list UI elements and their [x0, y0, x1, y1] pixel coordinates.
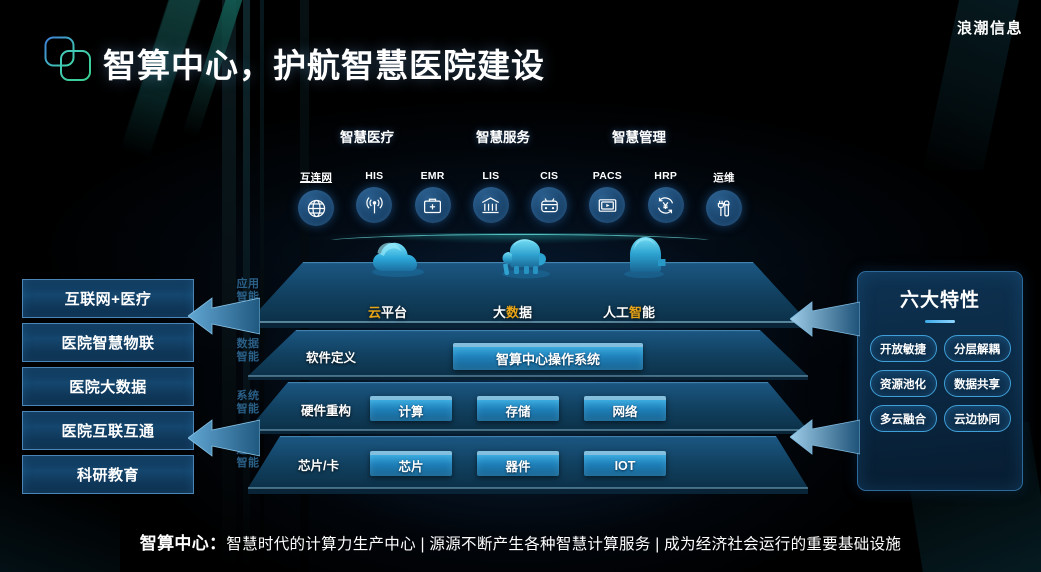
cloud-3d-icon	[370, 236, 426, 278]
slide-canvas: 智算中心，护航智慧医院建设 浪潮信息 智慧医疗 智慧服务 智慧管理 互连网 HI…	[0, 0, 1041, 572]
head-3d-icon	[619, 233, 669, 279]
architecture-pyramid: 云平台 大数据 人工智能 软件定义 智算中心操作系统	[248, 262, 808, 494]
app-label: LIS	[482, 170, 499, 182]
arrow-left-upper	[188, 296, 260, 336]
app-item-lis[interactable]: LIS	[465, 170, 517, 226]
elephant-3d-icon	[498, 235, 554, 279]
list-item[interactable]: 科研教育	[22, 455, 194, 494]
arrow-right-upper	[790, 300, 860, 338]
medkit-icon	[415, 187, 451, 223]
yen-cycle-icon	[648, 187, 684, 223]
app-item-pacs[interactable]: PACS	[581, 170, 633, 226]
application-section: 智慧医疗 智慧服务 智慧管理 互连网 HIS	[290, 126, 750, 246]
app-label: EMR	[421, 170, 445, 182]
feature-pill[interactable]: 开放敏捷	[870, 335, 937, 362]
top-item-label-ai: 人工智能	[603, 302, 655, 321]
list-item[interactable]: 医院互联互通	[22, 411, 194, 450]
bank-icon	[473, 187, 509, 223]
group-title-manage: 智慧管理	[612, 126, 666, 146]
footer-rest: 智慧时代的计算力生产中心 | 源源不断产生各种智慧计算服务 | 成为经济社会运行…	[226, 536, 901, 553]
globe-icon	[298, 190, 334, 226]
tools-icon	[706, 190, 742, 226]
app-label: CIS	[540, 170, 558, 182]
app-label: HRP	[654, 170, 677, 182]
chip-network[interactable]: 网络	[584, 396, 666, 421]
app-item-hrp[interactable]: HRP	[640, 170, 692, 226]
app-item-cis[interactable]: CIS	[523, 170, 575, 226]
layer-row-label-software: 软件定义	[306, 347, 356, 366]
footer: 智算中心：智慧时代的计算力生产中心 | 源源不断产生各种智慧计算服务 | 成为经…	[0, 529, 1041, 554]
feature-pill[interactable]: 资源池化	[870, 370, 937, 397]
app-label: PACS	[593, 170, 622, 182]
chip-compute[interactable]: 计算	[370, 396, 452, 421]
media-play-icon	[589, 187, 625, 223]
monitor-icon	[531, 187, 567, 223]
layer-row-label-hardware: 硬件重构	[301, 400, 351, 419]
group-title-service: 智慧服务	[476, 126, 530, 146]
signal-icon	[356, 187, 392, 223]
list-item[interactable]: 医院智慧物联	[22, 323, 194, 362]
app-item-emr[interactable]: EMR	[407, 170, 459, 226]
divider	[925, 320, 955, 323]
software-layer[interactable]: 软件定义 智算中心操作系统	[248, 330, 808, 380]
hardware-layer[interactable]: 硬件重构 计算 存储 网络	[248, 382, 808, 434]
app-icon-row: 互连网 HIS	[290, 170, 750, 226]
app-item-ops[interactable]: 运维	[698, 170, 750, 226]
feature-pill[interactable]: 分层解耦	[944, 335, 1011, 362]
header: 智算中心，护航智慧医院建设 浪潮信息	[0, 0, 1041, 100]
side-label-system: 系统智能	[236, 390, 260, 415]
features-panel-title: 六大特性	[858, 285, 1022, 312]
page-title: 智算中心，护航智慧医院建设	[103, 39, 545, 87]
application-layer[interactable]: 云平台 大数据 人工智能	[248, 262, 808, 328]
overlapping-squares-icon	[42, 34, 94, 86]
arrow-left-lower	[188, 418, 260, 458]
corp-logo: 浪潮信息	[957, 17, 1023, 38]
feature-pill[interactable]: 多云融合	[870, 405, 937, 432]
chip-device[interactable]: 器件	[477, 451, 559, 476]
app-item-his[interactable]: HIS	[348, 170, 400, 226]
chip-layer[interactable]: 芯片/卡 芯片 器件 IOT	[248, 436, 808, 494]
app-label: HIS	[365, 170, 383, 182]
top-item-label-cloud: 云平台	[368, 302, 407, 321]
chip-iot[interactable]: IOT	[584, 451, 666, 476]
left-scenario-list: 互联网+医疗 医院智慧物联 医院大数据 医院互联互通 科研教育	[22, 279, 194, 499]
list-item[interactable]: 医院大数据	[22, 367, 194, 406]
chip-os[interactable]: 智算中心操作系统	[453, 343, 643, 370]
app-label: 互连网	[300, 170, 332, 185]
app-item-internet[interactable]: 互连网	[290, 170, 342, 226]
chip-storage[interactable]: 存储	[477, 396, 559, 421]
layer-row-label-chip: 芯片/卡	[298, 455, 339, 474]
list-item[interactable]: 互联网+医疗	[22, 279, 194, 318]
chip-silicon[interactable]: 芯片	[370, 451, 452, 476]
features-panel: 六大特性 开放敏捷 分层解耦 资源池化 数据共享 多云融合 云边协同	[857, 271, 1023, 491]
arrow-right-lower	[790, 418, 860, 456]
footer-tagline: 智算中心：智慧时代的计算力生产中心 | 源源不断产生各种智慧计算服务 | 成为经…	[0, 529, 1041, 554]
features-pill-grid: 开放敏捷 分层解耦 资源池化 数据共享 多云融合 云边协同	[858, 335, 1022, 432]
top-item-label-bigdata: 大数据	[493, 302, 532, 321]
footer-lead: 智算中心：	[140, 534, 227, 553]
feature-pill[interactable]: 云边协同	[944, 405, 1011, 432]
feature-pill[interactable]: 数据共享	[944, 370, 1011, 397]
app-label: 运维	[713, 170, 734, 185]
group-title-medical: 智慧医疗	[340, 126, 394, 146]
side-label-data: 数据智能	[236, 338, 260, 363]
